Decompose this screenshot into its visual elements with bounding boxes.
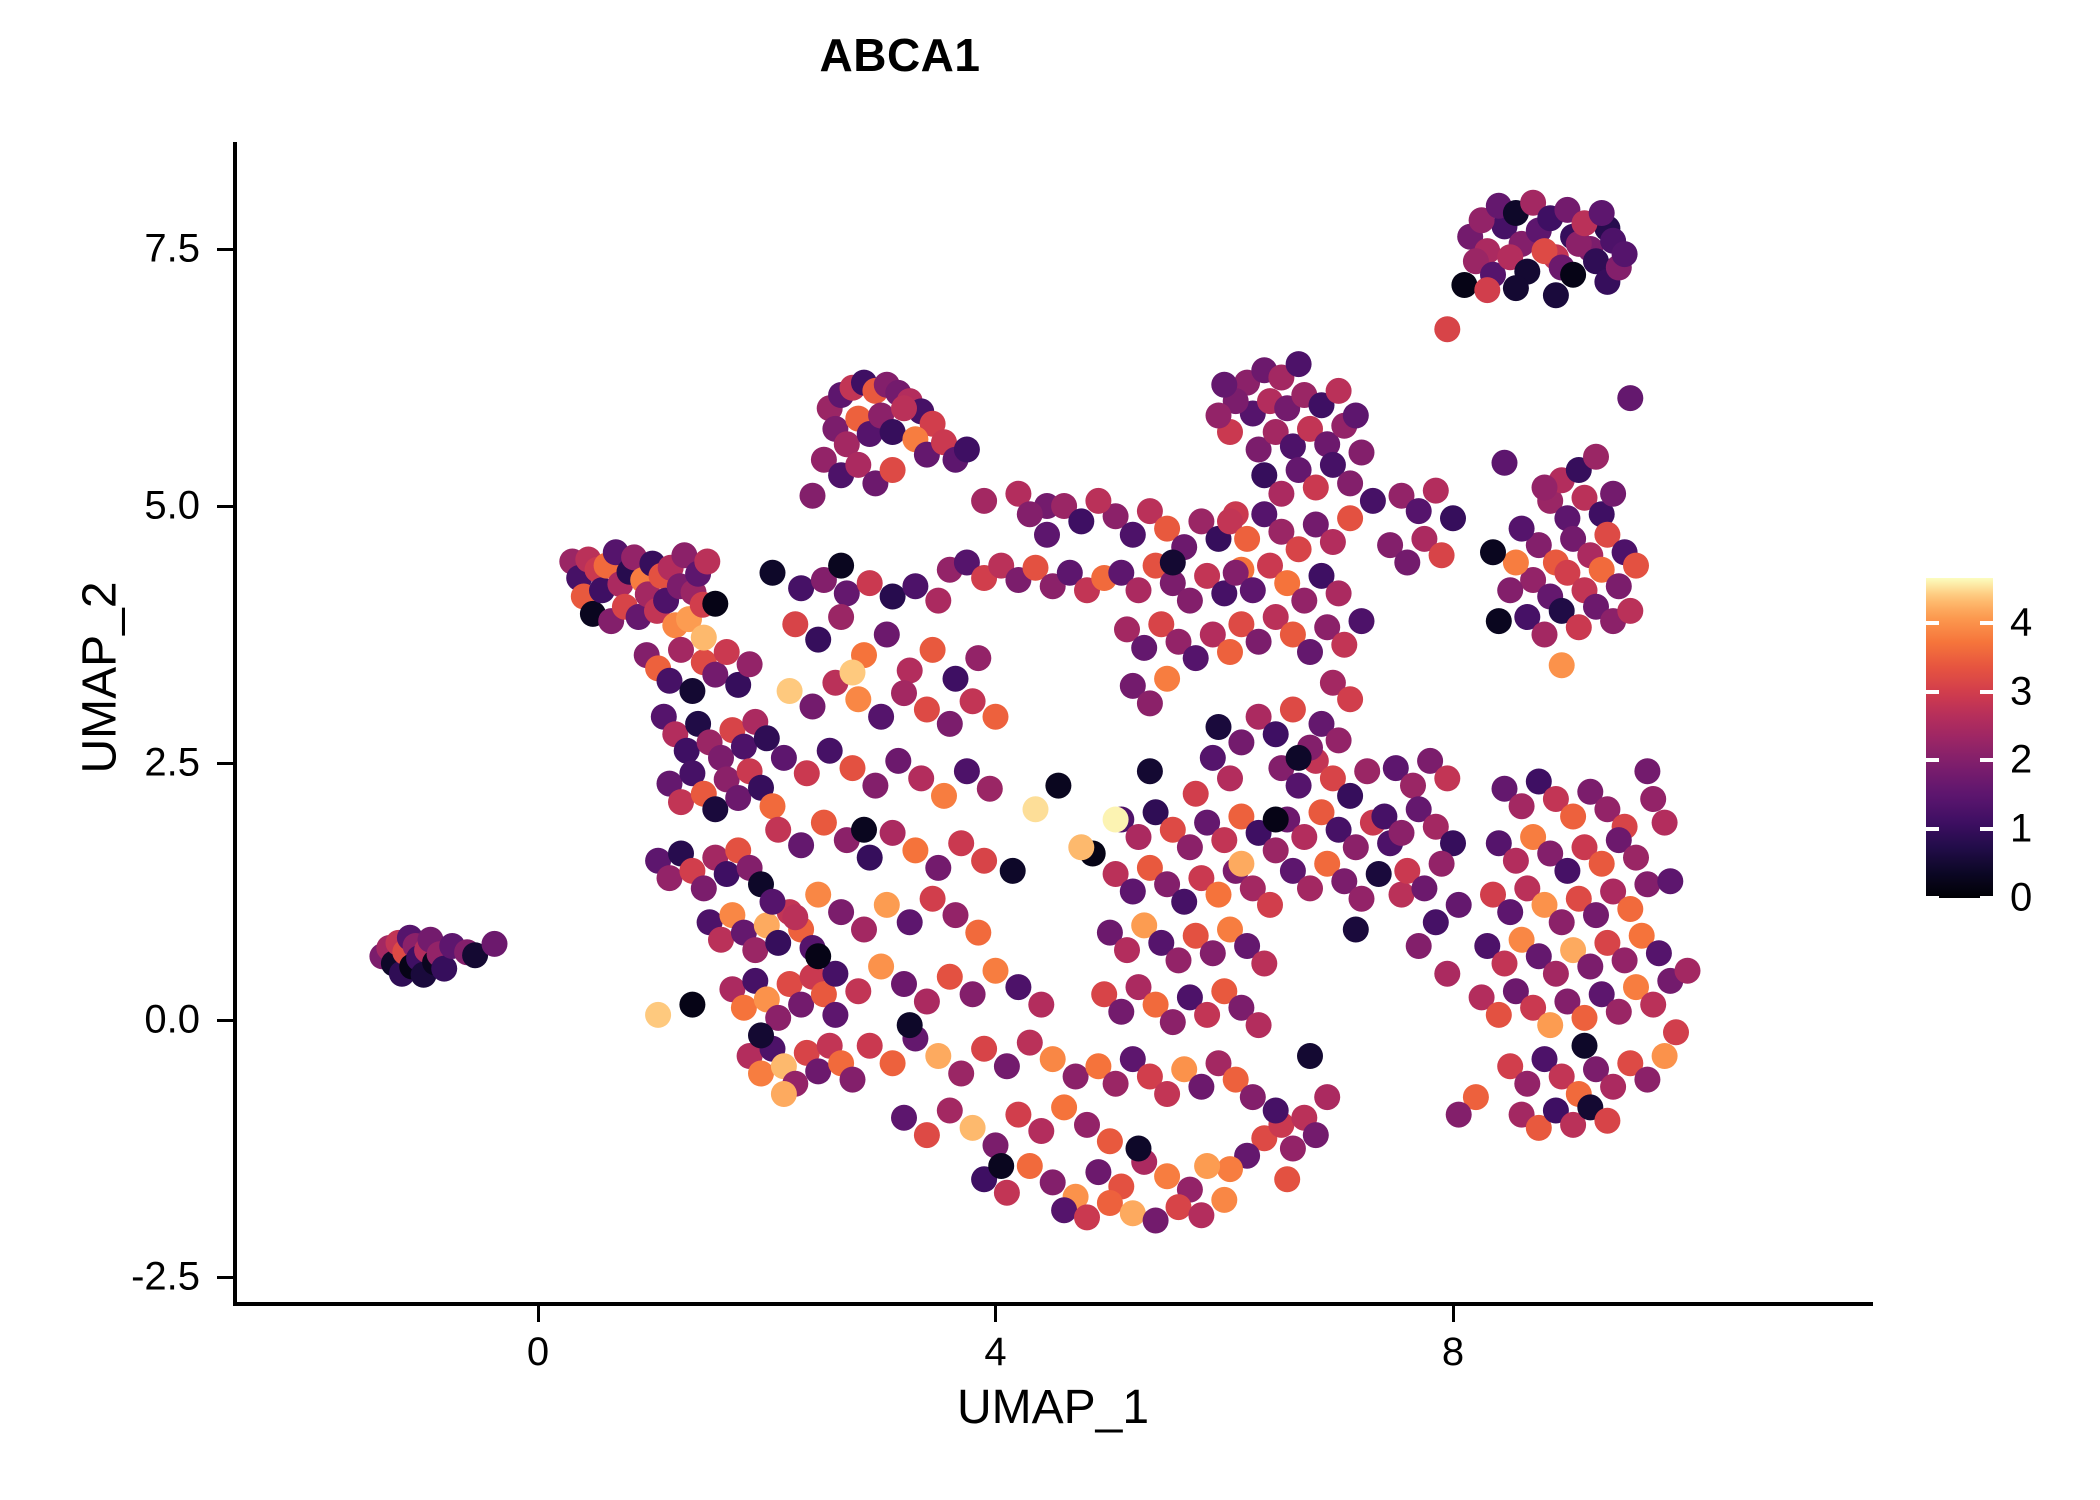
scatter-point xyxy=(1040,1046,1066,1072)
scatter-point xyxy=(1280,1136,1306,1162)
scatter-point xyxy=(1211,372,1237,398)
scatter-point xyxy=(748,1061,774,1087)
scatter-point xyxy=(1240,577,1266,603)
scatter-point xyxy=(1657,868,1683,894)
legend-tick-label: 1 xyxy=(2010,807,2032,852)
scatter-point xyxy=(1166,1194,1192,1220)
scatter-point xyxy=(1131,635,1157,661)
scatter-point xyxy=(657,668,683,694)
scatter-point xyxy=(702,796,728,822)
scatter-point xyxy=(948,1061,974,1087)
scatter-point xyxy=(1017,501,1043,527)
scatter-point xyxy=(1634,871,1660,897)
scatter-point xyxy=(1440,505,1466,531)
scatter-point xyxy=(1194,1153,1220,1179)
scatter-point xyxy=(1434,316,1460,342)
scatter-point xyxy=(1411,875,1437,901)
scatter-point xyxy=(948,830,974,856)
scatter-point xyxy=(1606,999,1632,1025)
scatter-point xyxy=(977,776,1003,802)
scatter-point xyxy=(668,789,694,815)
scatter-point xyxy=(1291,588,1317,614)
scatter-point xyxy=(1097,1190,1123,1216)
scatter-point xyxy=(1623,553,1649,579)
scatter-point xyxy=(1017,1153,1043,1179)
scatter-point xyxy=(914,989,940,1015)
scatter-point xyxy=(1217,1156,1243,1182)
y-tick-mark xyxy=(217,1019,233,1022)
scatter-point xyxy=(1297,1043,1323,1069)
scatter-point xyxy=(800,694,826,720)
scatter-point xyxy=(880,1050,906,1076)
scatter-point xyxy=(1040,1169,1066,1195)
scatter-point xyxy=(1326,727,1352,753)
scatter-point xyxy=(1291,824,1317,850)
scatter-point xyxy=(691,625,717,651)
scatter-point xyxy=(885,748,911,774)
scatter-point xyxy=(920,637,946,663)
scatter-point xyxy=(1126,577,1152,603)
scatter-point xyxy=(834,580,860,606)
scatter-point xyxy=(1286,351,1312,377)
scatter-point xyxy=(1337,470,1363,496)
x-axis-title: UMAP_1 xyxy=(233,1380,1873,1435)
scatter-point xyxy=(702,662,728,688)
scatter-point xyxy=(1000,858,1026,884)
scatter-point xyxy=(1389,882,1415,908)
scatter-point xyxy=(1594,1108,1620,1134)
y-tick-mark xyxy=(217,248,233,251)
scatter-point xyxy=(1583,902,1609,928)
scatter-point xyxy=(1343,403,1369,429)
y-tick-mark xyxy=(217,1276,233,1279)
scatter-point xyxy=(971,848,997,874)
scatter-point xyxy=(760,793,786,819)
scatter-point xyxy=(1514,1071,1540,1097)
scatter-point xyxy=(1297,639,1323,665)
scatter-point xyxy=(1303,475,1329,501)
scatter-point xyxy=(1286,773,1312,799)
legend-tick-label: 2 xyxy=(2010,738,2032,783)
scatter-point xyxy=(1297,875,1323,901)
scatter-point xyxy=(1486,608,1512,634)
scatter-point xyxy=(1177,834,1203,860)
scatter-point xyxy=(1577,954,1603,980)
scatter-point xyxy=(1005,974,1031,1000)
color-legend-bar xyxy=(1926,578,1993,898)
scatter-point xyxy=(714,639,740,665)
legend-tick-mark xyxy=(1980,896,1993,900)
scatter-point xyxy=(1126,824,1152,850)
scatter-point xyxy=(657,865,683,891)
scatter-point xyxy=(1200,745,1226,771)
scatter-point xyxy=(851,917,877,943)
scatter-point xyxy=(1549,909,1575,935)
scatter-point xyxy=(1423,478,1449,504)
scatter-point xyxy=(960,1115,986,1141)
scatter-point xyxy=(840,755,866,781)
scatter-point xyxy=(1286,536,1312,562)
legend-tick-mark xyxy=(1926,827,1939,831)
scatter-point xyxy=(943,902,969,928)
y-tick-label: 7.5 xyxy=(40,227,200,272)
scatter-point xyxy=(1206,714,1232,740)
scatter-point xyxy=(1354,758,1380,784)
scatter-point xyxy=(1183,645,1209,671)
scatter-point xyxy=(800,483,826,509)
scatter-point xyxy=(1211,1187,1237,1213)
scatter-point xyxy=(679,992,705,1018)
scatter-point xyxy=(1240,1084,1266,1110)
scatter-point xyxy=(1675,958,1701,984)
scatter-point xyxy=(1583,444,1609,470)
scatter-point xyxy=(908,765,934,791)
scatter-point xyxy=(1120,879,1146,905)
scatter-point xyxy=(891,1105,917,1131)
scatter-point xyxy=(925,1043,951,1069)
scatter-point xyxy=(1005,1102,1031,1128)
scatter-point xyxy=(788,832,814,858)
scatter-point xyxy=(1360,488,1386,514)
scatter-point xyxy=(902,837,928,863)
scatter-point xyxy=(1228,729,1254,755)
scatter-point xyxy=(1120,522,1146,548)
scatter-point xyxy=(925,588,951,614)
scatter-point xyxy=(1606,573,1632,599)
scatter-point xyxy=(1188,1074,1214,1100)
scatter-point xyxy=(1188,1202,1214,1228)
scatter-point xyxy=(1137,758,1163,784)
scatter-point xyxy=(845,686,871,712)
scatter-point xyxy=(771,1081,797,1107)
scatter-point xyxy=(1612,947,1638,973)
scatter-point xyxy=(897,909,923,935)
plot-panel xyxy=(235,142,1870,1304)
legend-tick-mark xyxy=(1980,621,1993,625)
legend-tick-label: 0 xyxy=(2010,876,2032,921)
scatter-point xyxy=(880,820,906,846)
scatter-point xyxy=(731,734,757,760)
scatter-point xyxy=(788,575,814,601)
scatter-point xyxy=(777,678,803,704)
scatter-point xyxy=(1652,1043,1678,1069)
scatter-point xyxy=(1451,272,1477,298)
scatter-point xyxy=(1623,845,1649,871)
scatter-point xyxy=(1160,550,1186,576)
scatter-point xyxy=(817,738,843,764)
scatter-point xyxy=(1051,1094,1077,1120)
scatter-point xyxy=(1509,793,1535,819)
scatter-point xyxy=(1257,892,1283,918)
scatter-point xyxy=(1303,1122,1329,1148)
scatter-point xyxy=(1503,848,1529,874)
x-tick-label: 8 xyxy=(1442,1330,1464,1375)
scatter-point xyxy=(868,704,894,730)
scatter-point xyxy=(1492,951,1518,977)
scatter-point xyxy=(868,954,894,980)
scatter-point xyxy=(1366,861,1392,887)
scatter-point xyxy=(1429,851,1455,877)
scatter-point xyxy=(674,738,700,764)
scatter-point xyxy=(880,457,906,483)
scatter-point xyxy=(840,660,866,686)
scatter-point xyxy=(891,971,917,997)
scatter-point xyxy=(731,995,757,1021)
scatter-point xyxy=(805,1058,831,1084)
scatter-point xyxy=(1600,481,1626,507)
scatter-point xyxy=(1337,505,1363,531)
scatter-point xyxy=(960,688,986,714)
scatter-point xyxy=(1554,858,1580,884)
scatter-point xyxy=(828,899,854,925)
scatter-point xyxy=(1337,686,1363,712)
scatter-point xyxy=(1320,529,1346,555)
scatter-point xyxy=(748,1022,774,1048)
scatter-point xyxy=(1474,277,1500,303)
scatter-point xyxy=(765,817,791,843)
scatter-point xyxy=(1560,804,1586,830)
scatter-point xyxy=(1497,577,1523,603)
scatter-point xyxy=(1246,629,1272,655)
scatter-point xyxy=(1160,1009,1186,1035)
scatter-point xyxy=(1543,961,1569,987)
scatter-point xyxy=(431,956,457,982)
scatter-point xyxy=(828,553,854,579)
scatter-point xyxy=(891,395,917,421)
scatter-point xyxy=(679,678,705,704)
y-axis-title: UMAP_2 xyxy=(73,278,128,1078)
scatter-point xyxy=(1634,1067,1660,1093)
scatter-point xyxy=(754,725,780,751)
scatter-point xyxy=(1646,940,1672,966)
scatter-point xyxy=(1017,1030,1043,1056)
legend-tick-mark xyxy=(1980,758,1993,762)
scatter-point xyxy=(1600,1074,1626,1100)
scatter-point xyxy=(1171,889,1197,915)
scatter-point xyxy=(1343,917,1369,943)
x-tick-label: 0 xyxy=(527,1330,549,1375)
legend-tick-mark xyxy=(1926,690,1939,694)
scatter-point xyxy=(1286,745,1312,771)
scatter-point xyxy=(1108,999,1134,1025)
scatter-point xyxy=(805,627,831,653)
scatter-point xyxy=(1509,516,1535,542)
scatter-point xyxy=(1480,539,1506,565)
scatter-point xyxy=(1532,622,1558,648)
legend-tick-mark xyxy=(1926,896,1939,900)
scatter-point xyxy=(954,758,980,784)
scatter-point xyxy=(1337,783,1363,809)
scatter-point xyxy=(1406,933,1432,959)
scatter-point xyxy=(1200,940,1226,966)
legend-tick-mark xyxy=(1926,621,1939,625)
y-tick-label: -2.5 xyxy=(40,1255,200,1300)
y-tick-mark xyxy=(217,762,233,765)
scatter-point xyxy=(1051,1197,1077,1223)
x-tick-mark xyxy=(1452,1306,1455,1322)
scatter-point xyxy=(902,573,928,599)
scatter-point xyxy=(1486,1002,1512,1028)
scatter-point xyxy=(1263,837,1289,863)
scatter-point xyxy=(1045,773,1071,799)
color-legend: 01234 xyxy=(1926,578,1993,898)
scatter-point xyxy=(1154,666,1180,692)
scatter-point xyxy=(794,760,820,786)
scatter-point xyxy=(1492,450,1518,476)
scatter-point xyxy=(1503,550,1529,576)
scatter-point xyxy=(788,992,814,1018)
scatter-point xyxy=(960,981,986,1007)
scatter-point xyxy=(737,651,763,677)
scatter-point xyxy=(782,611,808,637)
scatter-point xyxy=(965,920,991,946)
scatter-point xyxy=(954,437,980,463)
scatter-point xyxy=(811,810,837,836)
scatter-point xyxy=(1349,886,1375,912)
scatter-point xyxy=(983,704,1009,730)
scatter-point xyxy=(1326,378,1352,404)
scatter-point xyxy=(1663,1019,1689,1045)
y-tick-mark xyxy=(217,505,233,508)
scatter-point xyxy=(1206,403,1232,429)
scatter-point xyxy=(1560,262,1586,288)
scatter-point xyxy=(1143,1208,1169,1234)
scatter-point xyxy=(1074,1112,1100,1138)
scatter-point xyxy=(1349,440,1375,466)
scatter-point xyxy=(1640,992,1666,1018)
scatter-point xyxy=(1543,282,1569,308)
scatter-point xyxy=(1183,781,1209,807)
scatter-point xyxy=(828,604,854,630)
legend-tick-mark xyxy=(1980,827,1993,831)
scatter-point xyxy=(1389,820,1415,846)
legend-tick-mark xyxy=(1980,690,1993,694)
scatter-point xyxy=(1400,773,1426,799)
scatter-point xyxy=(1263,721,1289,747)
scatter-point xyxy=(1023,796,1049,822)
scatter-point xyxy=(1126,1136,1152,1162)
scatter-point xyxy=(1429,542,1455,568)
scatter-point xyxy=(691,875,717,901)
scatter-point xyxy=(857,845,883,871)
scatter-point xyxy=(1549,652,1575,678)
legend-tick-label: 3 xyxy=(2010,669,2032,714)
scatter-point xyxy=(1177,588,1203,614)
legend-tick-mark xyxy=(1926,758,1939,762)
scatter-point xyxy=(1103,807,1129,833)
scatter-point xyxy=(782,904,808,930)
scatter-point xyxy=(1103,1071,1129,1097)
scatter-points-layer xyxy=(235,142,1870,1304)
scatter-point xyxy=(857,1033,883,1059)
scatter-point xyxy=(1085,1159,1111,1185)
scatter-point xyxy=(1314,1084,1340,1110)
scatter-point xyxy=(482,931,508,957)
scatter-point xyxy=(851,817,877,843)
scatter-point xyxy=(1263,1098,1289,1124)
scatter-point xyxy=(874,622,900,648)
scatter-point xyxy=(1268,481,1294,507)
scatter-point xyxy=(1194,1002,1220,1028)
scatter-point xyxy=(931,783,957,809)
scatter-point xyxy=(874,892,900,918)
scatter-point xyxy=(1263,807,1289,833)
scatter-point xyxy=(1097,1128,1123,1154)
scatter-point xyxy=(1331,632,1357,658)
scatter-point xyxy=(668,637,694,663)
scatter-point xyxy=(988,1153,1014,1179)
scatter-point xyxy=(1154,1081,1180,1107)
scatter-point xyxy=(845,978,871,1004)
scatter-point xyxy=(1640,786,1666,812)
scatter-point xyxy=(920,886,946,912)
scatter-point xyxy=(862,773,888,799)
scatter-point xyxy=(925,855,951,881)
scatter-point xyxy=(1074,1204,1100,1230)
scatter-point xyxy=(1343,834,1369,860)
scatter-point xyxy=(891,680,917,706)
scatter-point xyxy=(1120,1200,1146,1226)
scatter-point xyxy=(1612,241,1638,267)
scatter-point xyxy=(1634,758,1660,784)
legend-tick-label: 4 xyxy=(2010,600,2032,645)
scatter-point xyxy=(880,584,906,610)
scatter-point xyxy=(1068,834,1094,860)
scatter-point xyxy=(1617,385,1643,411)
scatter-point xyxy=(1446,1102,1472,1128)
scatter-point xyxy=(1085,488,1111,514)
x-tick-mark xyxy=(537,1306,540,1322)
x-tick-mark xyxy=(994,1306,997,1322)
scatter-point xyxy=(1532,475,1558,501)
scatter-point xyxy=(1434,961,1460,987)
scatter-point xyxy=(897,1012,923,1038)
scatter-point xyxy=(880,419,906,445)
scatter-point xyxy=(1206,882,1232,908)
umap-feature-plot: ABCA1 -2.50.02.55.07.5 048 UMAP_1 UMAP_2… xyxy=(0,0,2100,1500)
scatter-point xyxy=(1589,200,1615,226)
scatter-point xyxy=(1217,765,1243,791)
scatter-point xyxy=(897,658,923,684)
scatter-point xyxy=(1406,498,1432,524)
scatter-point xyxy=(1137,690,1163,716)
scatter-point xyxy=(1034,522,1060,548)
scatter-point xyxy=(1234,526,1260,552)
scatter-point xyxy=(1572,1033,1598,1059)
scatter-point xyxy=(937,711,963,737)
scatter-point xyxy=(1063,1064,1089,1090)
scatter-point xyxy=(765,930,791,956)
scatter-point xyxy=(983,958,1009,984)
scatter-point xyxy=(1028,992,1054,1018)
scatter-point xyxy=(1589,851,1615,877)
scatter-point xyxy=(708,927,734,953)
scatter-point xyxy=(1394,550,1420,576)
scatter-point xyxy=(1446,892,1472,918)
scatter-point xyxy=(714,861,740,887)
scatter-point xyxy=(694,549,720,575)
scatter-point xyxy=(742,937,768,963)
page-title: ABCA1 xyxy=(0,28,1800,82)
scatter-point xyxy=(1423,909,1449,935)
scatter-point xyxy=(771,745,797,771)
scatter-point xyxy=(857,570,883,596)
scatter-point xyxy=(1280,697,1306,723)
scatter-point xyxy=(1566,614,1592,640)
scatter-point xyxy=(937,964,963,990)
scatter-point xyxy=(914,697,940,723)
scatter-point xyxy=(805,882,831,908)
